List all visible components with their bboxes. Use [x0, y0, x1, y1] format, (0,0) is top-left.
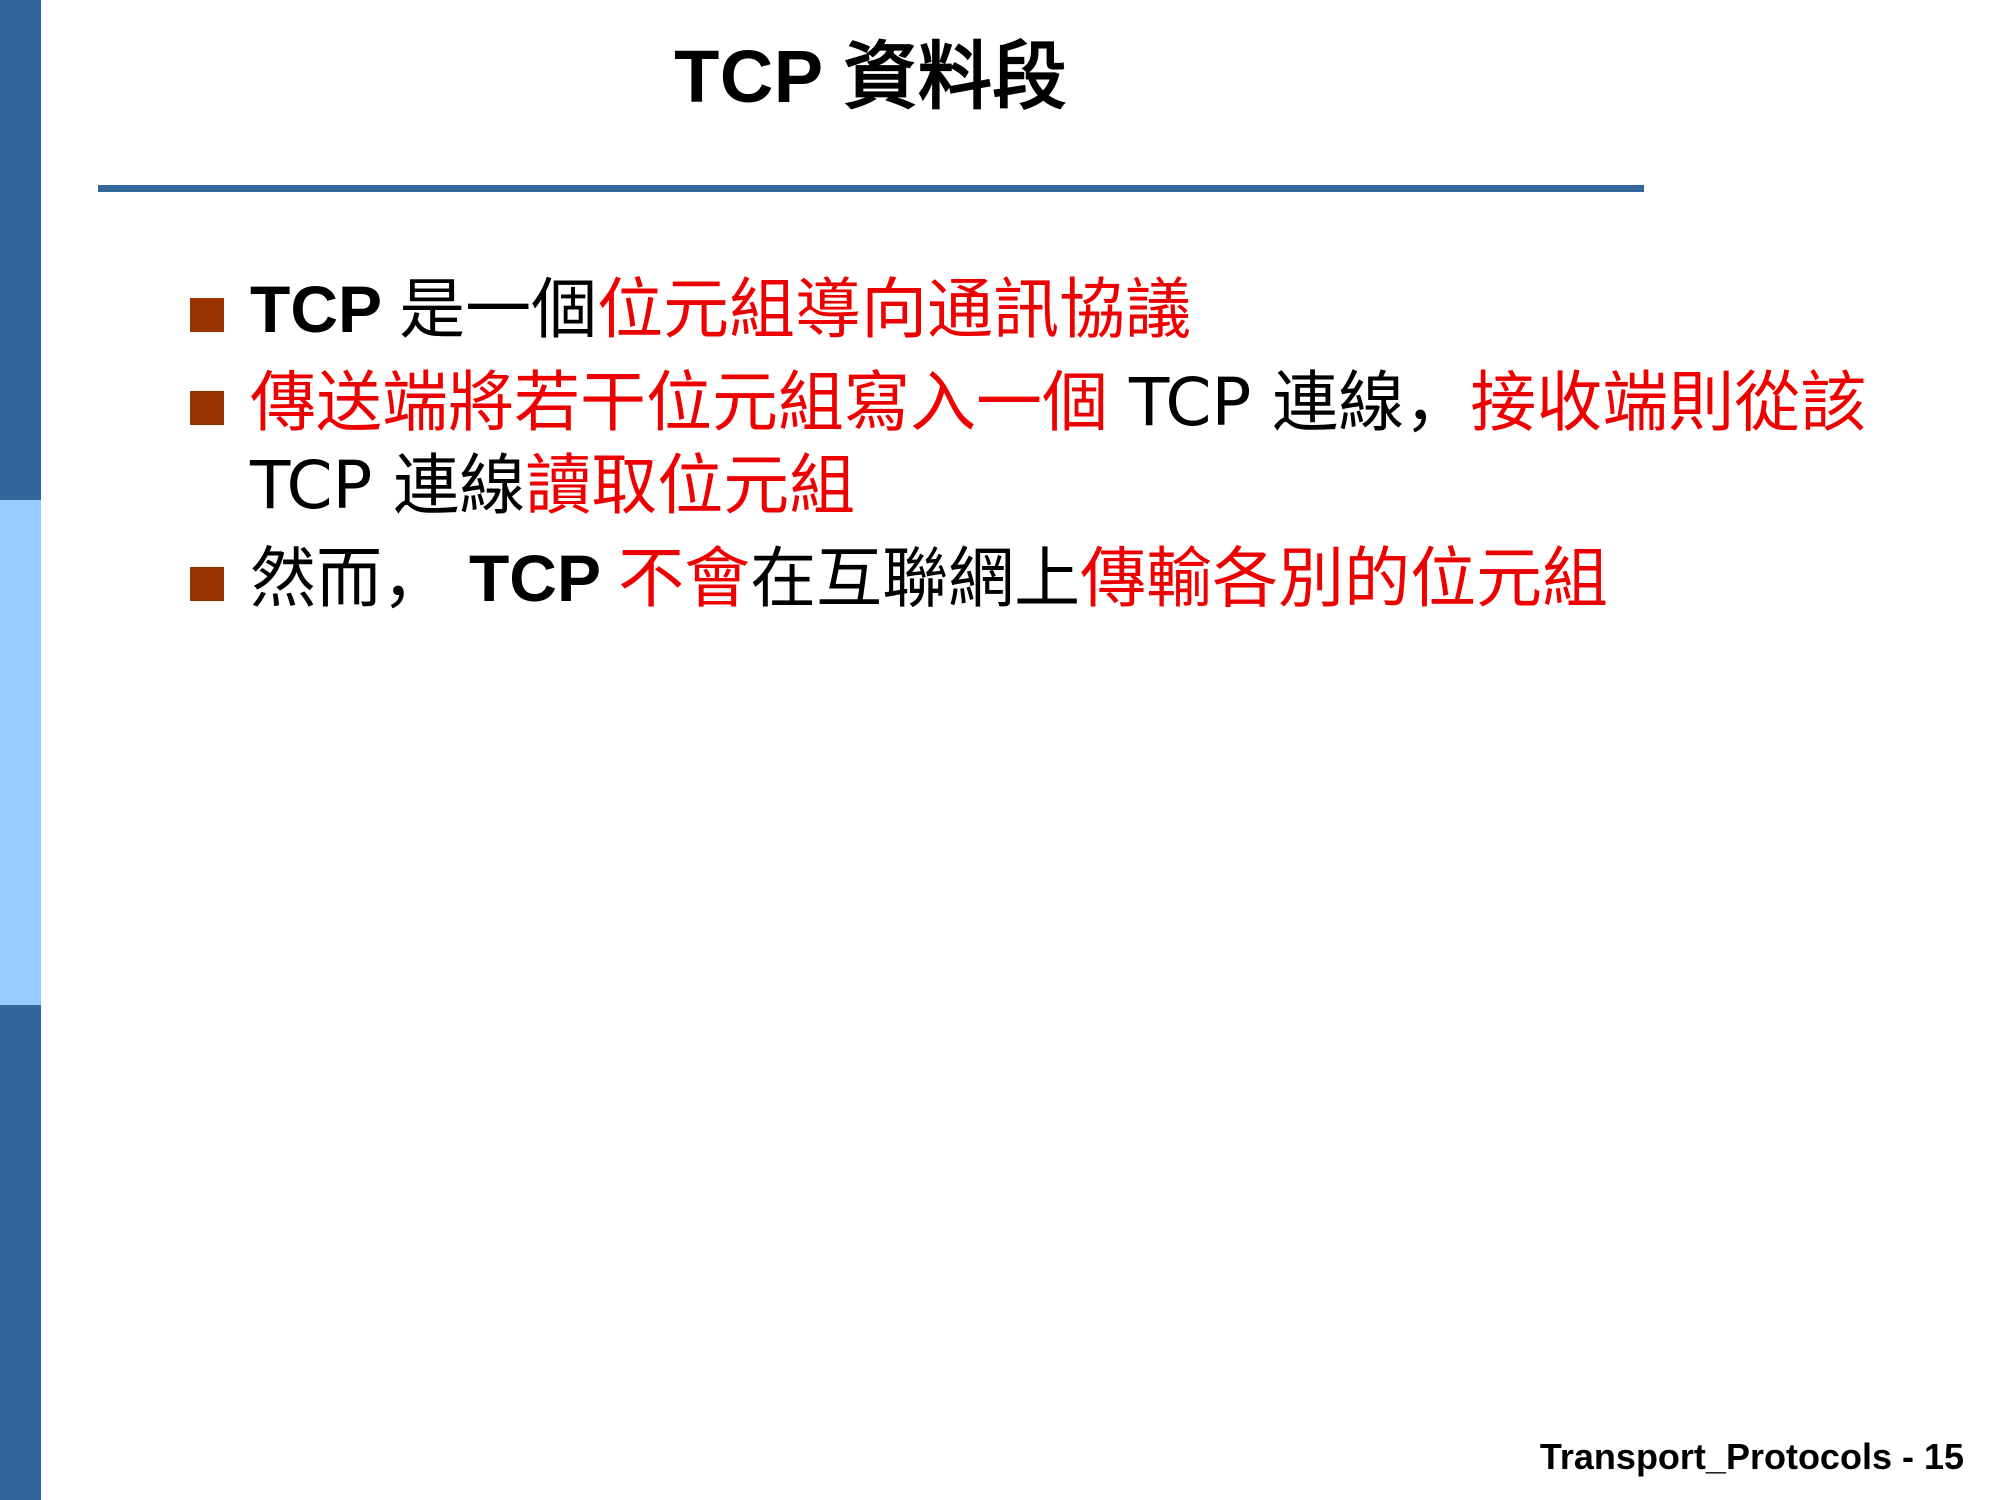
title-divider-rule [98, 185, 1644, 192]
bullet-segment: 是一個 [399, 271, 597, 348]
bullet-text-2: 傳送端將若干位元組寫入一個 TCP 連線，接收端則從該 TCP 連線讀取位元組 [250, 361, 1920, 527]
square-bullet-icon [190, 298, 224, 332]
list-item: 然而， TCP 不會在互聯網上傳輸各別的位元組 [190, 537, 1920, 620]
sidebar-band-top [0, 0, 41, 500]
slide-body: TCP 是一個位元組導向通訊協議 傳送端將若干位元組寫入一個 TCP 連線，接收… [190, 268, 1920, 631]
bullet-segment-highlight: 位元組導向通訊協議 [597, 271, 1191, 348]
bullet-segment-highlight: 不會 [618, 540, 750, 617]
bullet-segment: TCP [250, 272, 399, 346]
bullet-text-3: 然而， TCP 不會在互聯網上傳輸各別的位元組 [250, 537, 1920, 620]
bullet-segment: TCP 連線， [1108, 364, 1470, 441]
bullet-segment: TCP [469, 541, 618, 615]
bullet-segment: TCP 連線 [250, 447, 525, 524]
bullet-segment: 然而， [250, 540, 469, 617]
slide-footer: Transport_Protocols - 15 [1540, 1436, 1964, 1478]
sidebar-band-bottom [0, 1005, 41, 1500]
slide-title: TCP 資料段 [98, 34, 1643, 119]
bullet-segment-highlight: 讀取位元組 [525, 447, 855, 524]
sidebar-band-middle [0, 500, 41, 1005]
list-item: 傳送端將若干位元組寫入一個 TCP 連線，接收端則從該 TCP 連線讀取位元組 [190, 361, 1920, 527]
bullet-text-1: TCP 是一個位元組導向通訊協議 [250, 268, 1920, 351]
bullet-segment-highlight: 傳輸各別的位元組 [1080, 540, 1608, 617]
bullet-segment: 在互聯網上 [750, 540, 1080, 617]
square-bullet-icon [190, 567, 224, 601]
bullet-segment-highlight: 傳送端將若干位元組寫入一個 [250, 364, 1108, 441]
bullet-segment-highlight: 接收端則從該 [1470, 364, 1866, 441]
decorative-sidebar [0, 0, 41, 1500]
list-item: TCP 是一個位元組導向通訊協議 [190, 268, 1920, 351]
square-bullet-icon [190, 391, 224, 425]
